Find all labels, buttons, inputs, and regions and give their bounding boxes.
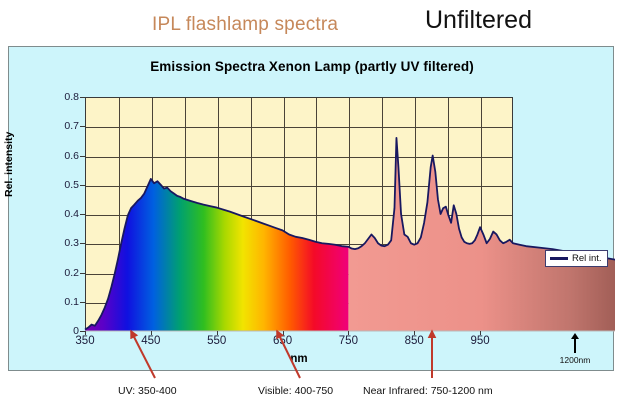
unfiltered-heading: Unfiltered <box>425 6 532 35</box>
y-axis-tick-label: 0.2 <box>45 267 79 279</box>
y-axis-tick <box>80 126 85 127</box>
x-axis-labels: 350450550650750850950 <box>9 335 615 351</box>
y-axis-tick <box>80 97 85 98</box>
x-axis-tick <box>283 331 284 335</box>
plot-area <box>85 97 513 331</box>
grid-line-vertical <box>349 98 350 330</box>
y-axis-tick <box>80 273 85 274</box>
chart-panel: Emission Spectra Xenon Lamp (partly UV f… <box>8 46 614 371</box>
grid-lines <box>86 98 512 330</box>
y-axis-tick-label: 0.3 <box>45 237 79 249</box>
grid-line-vertical <box>284 98 285 330</box>
y-axis-tick-label: 0.8 <box>45 91 79 103</box>
annotation-visible: Visible: 400-750 <box>258 385 333 397</box>
grid-line-vertical <box>185 98 186 330</box>
grid-line-vertical <box>119 98 120 330</box>
x-axis-tick <box>217 331 218 335</box>
x-axis-tick <box>480 331 481 335</box>
y-axis-labels: 00.10.20.30.40.50.60.70.8 <box>39 97 79 331</box>
end-wavelength-marker: 1200nm <box>555 333 595 365</box>
chart-title: Emission Spectra Xenon Lamp (partly UV f… <box>9 59 615 74</box>
x-axis-tick-label: 950 <box>470 335 489 347</box>
legend-label: Rel int. <box>572 253 602 264</box>
legend-line-icon <box>550 257 568 260</box>
y-axis-tick-label: 0.1 <box>45 296 79 308</box>
grid-line-vertical <box>481 98 482 330</box>
x-axis-tick-label: 450 <box>141 335 160 347</box>
grid-line-vertical <box>251 98 252 330</box>
annotation-uv: UV: 350-400 <box>118 385 177 397</box>
x-axis-tick <box>151 331 152 335</box>
x-axis-tick-label: 850 <box>405 335 424 347</box>
end-marker-label: 1200nm <box>555 355 595 365</box>
grid-line-vertical <box>152 98 153 330</box>
y-axis-tick-label: 0.7 <box>45 120 79 132</box>
grid-line-vertical <box>382 98 383 330</box>
y-axis-title: Rel. intensity <box>3 132 15 197</box>
x-axis-tick-label: 550 <box>207 335 226 347</box>
grid-line-vertical <box>415 98 416 330</box>
y-axis-tick-label: 0.5 <box>45 179 79 191</box>
grid-line-vertical <box>218 98 219 330</box>
x-axis-tick <box>85 331 86 335</box>
x-axis-title: nm <box>85 353 513 365</box>
y-axis-tick <box>80 214 85 215</box>
y-axis-tick-label: 0.4 <box>45 208 79 220</box>
legend: Rel int. <box>545 250 608 267</box>
y-axis-tick <box>80 302 85 303</box>
y-axis-tick-label: 0.6 <box>45 150 79 162</box>
y-axis-tick <box>80 185 85 186</box>
x-axis-tick <box>348 331 349 335</box>
x-axis-tick <box>414 331 415 335</box>
ipl-flashlamp-heading: IPL flashlamp spectra <box>152 14 338 36</box>
y-axis-tick <box>80 243 85 244</box>
x-axis-tick-label: 650 <box>273 335 292 347</box>
y-axis-tick <box>80 156 85 157</box>
x-axis-tick-label: 750 <box>339 335 358 347</box>
x-axis-tick-label: 350 <box>75 335 94 347</box>
annotation-nir: Near Infrared: 750-1200 nm <box>363 385 493 397</box>
marker-stem <box>574 339 576 353</box>
grid-line-vertical <box>448 98 449 330</box>
grid-line-vertical <box>316 98 317 330</box>
